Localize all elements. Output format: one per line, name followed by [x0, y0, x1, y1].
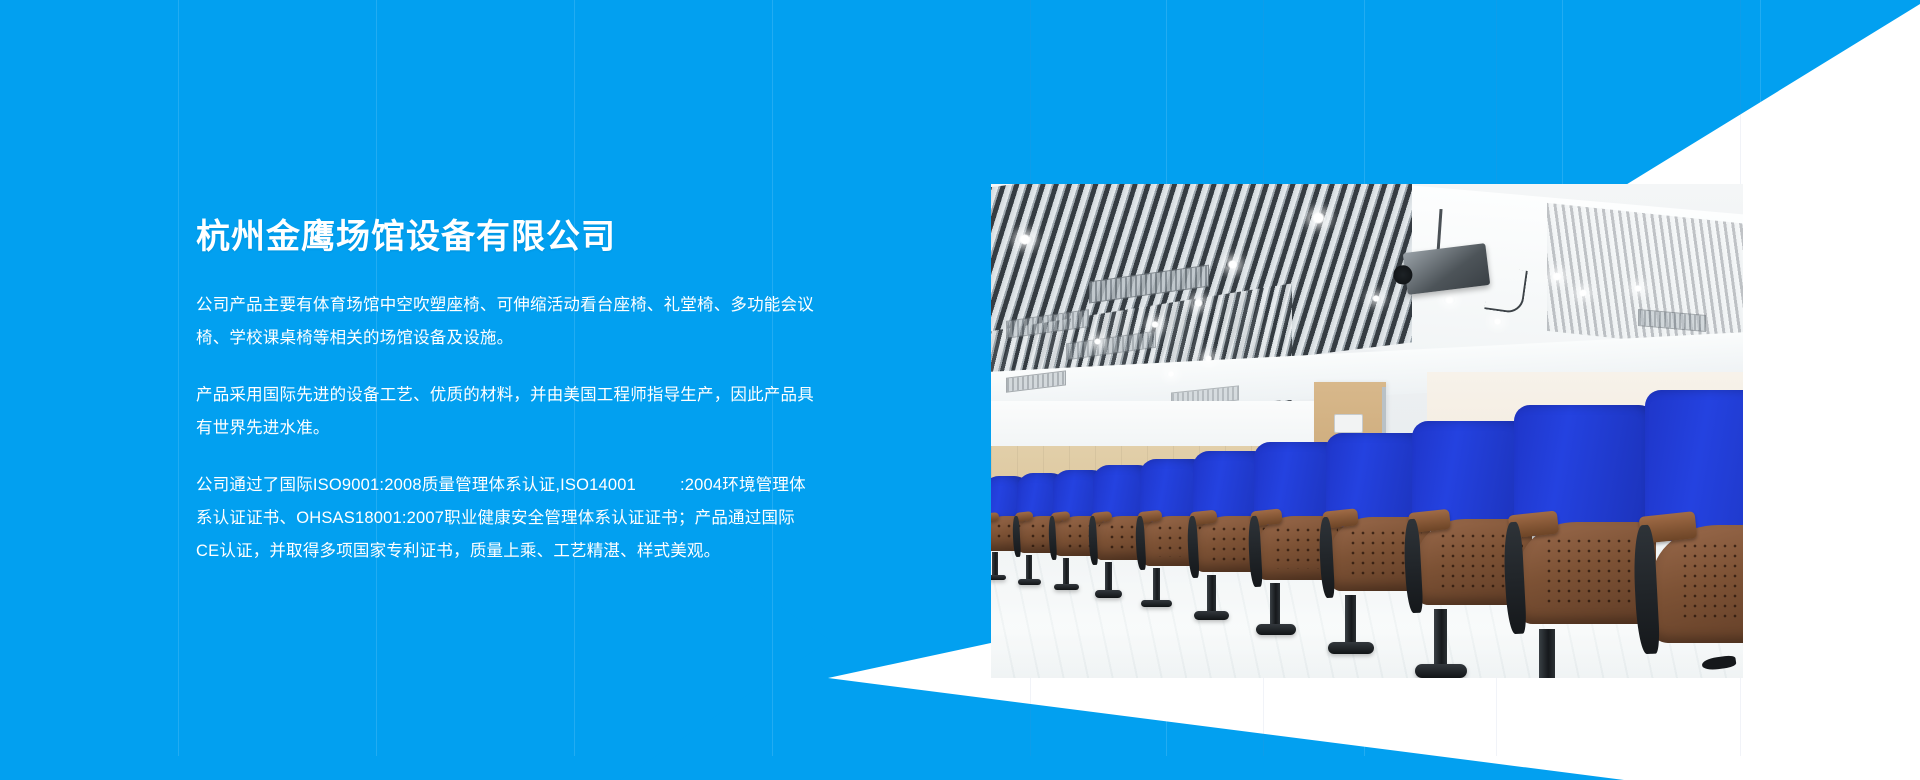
seat-leg: [1063, 558, 1069, 586]
seat-foot-base: [1095, 590, 1123, 597]
hero-copy-block: 杭州金鹰场馆设备有限公司 公司产品主要有体育场馆中空吹塑座椅、可伸缩活动看台座椅…: [196, 216, 816, 568]
divider-line: [1760, 0, 1761, 756]
seating-row: [991, 372, 1743, 678]
photo-content: [991, 184, 1743, 678]
seat-foot-base: [1256, 624, 1296, 634]
seat-foot-base: [1054, 584, 1079, 590]
paragraph-quality: 产品采用国际先进的设备工艺、优质的材料，并由美国工程师指导生产，因此产品具有世界…: [196, 379, 816, 445]
seat-leg: [1434, 609, 1447, 668]
seat-leg: [1153, 568, 1161, 602]
ceiling-slats-right: [1547, 203, 1743, 354]
seat-foot-base: [1194, 611, 1229, 620]
seat-leg: [1270, 583, 1280, 627]
seat-leg: [1207, 575, 1216, 614]
seat-foot-base: [1018, 579, 1041, 585]
certification-text-part1: 公司通过了国际ISO9001:2008质量管理体系认证,ISO14001: [196, 476, 636, 494]
page-title: 杭州金鹰场馆设备有限公司: [196, 216, 816, 259]
ceiling-downlight: [1226, 260, 1239, 269]
hero-banner: 杭州金鹰场馆设备有限公司 公司产品主要有体育场馆中空吹塑座椅、可伸缩活动看台座椅…: [0, 0, 1920, 780]
paragraph-certifications: 公司通过了国际ISO9001:2008质量管理体系认证,ISO14001:200…: [196, 469, 816, 568]
ceiling-downlight: [1093, 338, 1102, 345]
ceiling-downlight: [1310, 212, 1327, 224]
seat-leg: [1026, 555, 1032, 581]
ceiling-downlight: [1193, 299, 1204, 307]
seat-leg: [1105, 562, 1112, 592]
seat-leg: [1539, 629, 1555, 678]
auditorium-seat: [1645, 390, 1743, 660]
ceiling-downlight: [1371, 295, 1381, 302]
seat-foot-base: [1141, 600, 1172, 608]
seat-foot-base: [1415, 664, 1468, 678]
paragraph-products: 公司产品主要有体育场馆中空吹塑座椅、可伸缩活动看台座椅、礼堂椅、多功能会议椅、学…: [196, 289, 816, 355]
seat-foot-base: [1328, 642, 1374, 654]
ceiling-downlight: [1633, 285, 1643, 292]
ceiling-downlight: [1204, 355, 1213, 362]
ceiling-downlight: [1444, 296, 1455, 304]
seat-leg: [992, 552, 997, 576]
seat-leg: [1345, 595, 1356, 646]
seat-wood-panel: [1652, 525, 1743, 644]
seat-side-strap: [1502, 521, 1526, 634]
seat-foot-base: [991, 575, 1006, 581]
auditorium-seating-photo: [991, 184, 1743, 678]
